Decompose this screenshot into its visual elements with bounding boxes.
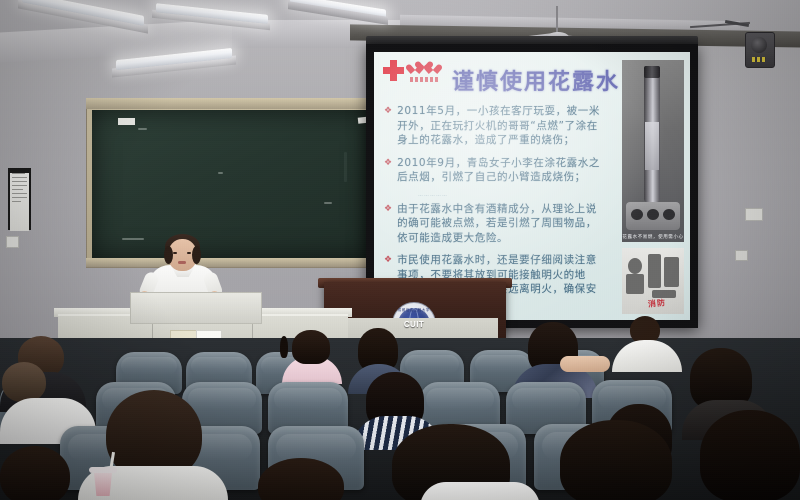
audience-hair-strand [280,336,288,358]
audience-torso-foreground [420,482,540,500]
audience-head-foreground [0,446,70,500]
slide-bullet-item: ❖ 2011年5月，一小孩在客厅玩耍，被一米开外，正在玩打火机的哥哥“点燃”了涂… [384,104,606,148]
red-cross-icon [383,60,404,81]
cartoon-caption: 消防 [647,297,666,310]
wall-outlet-right[interactable] [745,208,763,221]
bullet-marker-icon: ❖ [384,202,392,246]
lecture-hall-photo: 谨慎使用花露水 ❖ 2011年5月，一小孩在客厅玩耍，被一米开外，正在玩打火机的… [0,0,800,500]
wall-outlet-lower[interactable] [735,250,748,261]
slide-photo-caption: 花露水不易燃，使用需小心 [622,234,684,240]
slide-title: 谨慎使用花露水 [452,64,620,96]
presenter-rostrum [130,292,262,324]
drink-cup-lid [89,467,117,473]
heart-logo-icon [410,60,440,81]
presenter-eye-right [187,252,191,254]
bottle-cap [644,66,660,78]
speaker-cone-icon [751,37,767,53]
blackboard-note-left [118,118,135,125]
bottle-label [645,122,659,170]
presenter-hair-side-left [164,246,173,264]
blackboard-chalk-rail [86,258,378,267]
audience-arm [560,356,610,372]
wall-switch-plate[interactable] [6,236,19,248]
presenter-hair-side-right [192,246,201,264]
slide-fine-print: …………… [418,192,448,198]
slide-bullet-item: ❖ 2010年9月，青岛女子小李在涂花露水之后点烟，引燃了自己的小臂造成烧伤； [384,156,606,185]
speaker-indicator-icon [752,57,766,62]
framed-notice [8,168,31,230]
audience-head [2,362,46,402]
audience-hair-foreground [700,410,800,500]
slide-photo-bottle: 花露水不易燃，使用需小心 [622,60,684,242]
slide-bullet-item: ❖ 由于花露水中含有酒精成分，从理论上说的确可能被点燃，若是引燃了周围物品，依可… [384,202,606,246]
bullet-text: 2011年5月，一小孩在客厅玩耍，被一米开外，正在玩打火机的哥哥“点燃”了涂在身… [397,104,606,148]
bullet-marker-icon: ❖ [384,156,392,185]
emblem-text: CUIT [404,320,424,329]
presenter-eye-left [173,252,177,254]
audience-hair-foreground [560,420,672,500]
slide-logo-row [383,60,440,81]
blackboard [92,110,370,258]
photo-tray [626,202,680,230]
presenter-mouth [178,261,186,264]
ceiling-fan-rod [556,6,558,34]
blackboard-top-rail [86,98,378,109]
bullet-marker-icon: ❖ [384,104,392,148]
bullet-text: 由于花露水中含有酒精成分，从理论上说的确可能被点燃，若是引燃了周围物品，依可能造… [397,202,606,246]
audience-hair [292,330,330,364]
slide-photo-cartoon: 消防 [622,248,684,314]
bullet-text: 2010年9月，青岛女子小李在涂花露水之后点烟，引燃了自己的小臂造成烧伤； [397,156,606,185]
